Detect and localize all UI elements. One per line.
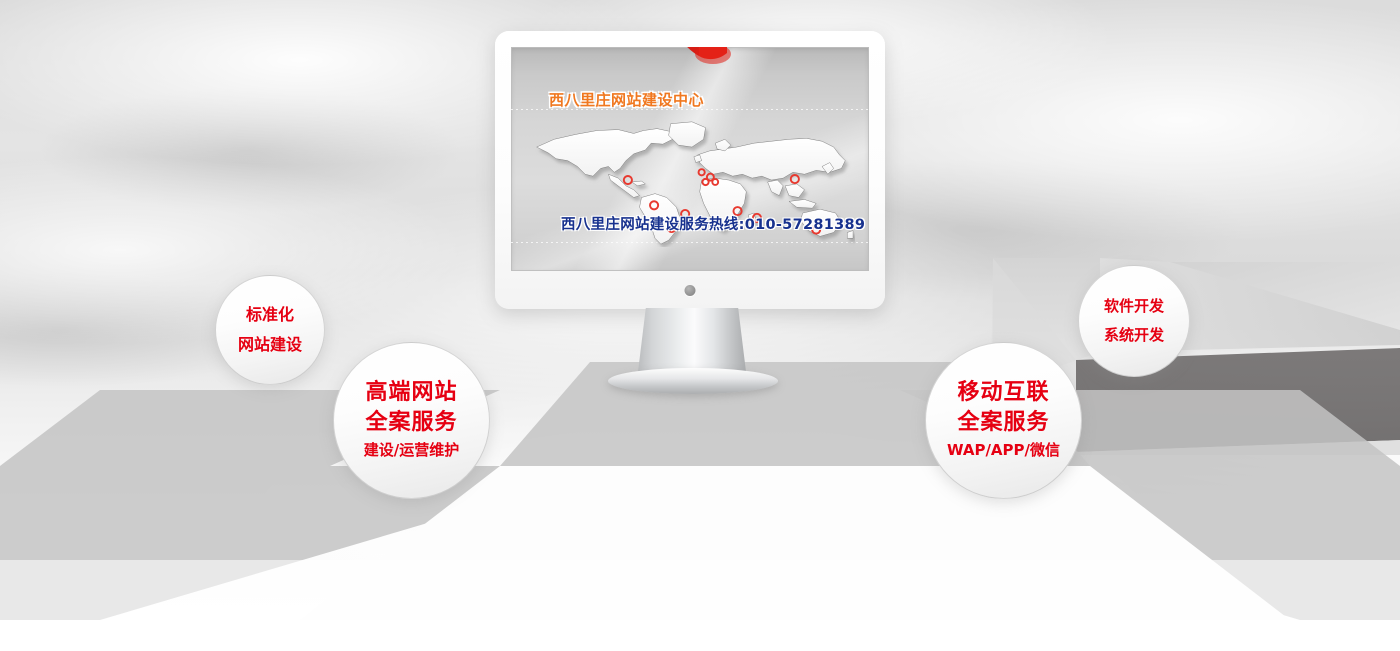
bubble-line-2: 系统开发: [1104, 321, 1164, 350]
bubble-software-development[interactable]: 软件开发 系统开发: [1078, 265, 1190, 377]
bubble-line-1: 移动互联: [957, 378, 1049, 408]
bubble-standard[interactable]: 标准化 网站建设: [215, 275, 325, 385]
monitor-screen: 西八里庄网站建设中心 西八里庄网站建设服务热线:010-57281389: [511, 47, 869, 271]
bubble-line-1: 软件开发: [1104, 292, 1164, 321]
bubble-line-2: 全案服务: [365, 408, 457, 438]
bubble-mobile-internet[interactable]: 移动互联 全案服务 WAP/APP/微信: [925, 342, 1082, 499]
monitor-stand-base: [608, 368, 778, 394]
monitor: 西八里庄网站建设中心 西八里庄网站建设服务热线:010-57281389: [495, 31, 885, 309]
screen-title: 西八里庄网站建设中心: [549, 89, 704, 110]
bubble-line-2: 网站建设: [238, 330, 302, 360]
screen-hotline: 西八里庄网站建设服务热线:010-57281389: [561, 213, 865, 234]
power-button-icon[interactable]: [685, 285, 696, 296]
red-ribbon-icon: [673, 47, 731, 83]
banner-stage: 西八里庄网站建设中心 西八里庄网站建设服务热线:010-57281389 标准化…: [0, 0, 1400, 651]
bubble-line-1: 高端网站: [365, 378, 457, 408]
bubble-high-end-website[interactable]: 高端网站 全案服务 建设/运营维护: [333, 342, 490, 499]
bubble-line-1: 标准化: [246, 300, 294, 330]
bubble-line-3: WAP/APP/微信: [947, 438, 1060, 463]
bubble-line-3: 建设/运营维护: [364, 438, 459, 463]
bubble-line-2: 全案服务: [957, 408, 1049, 438]
